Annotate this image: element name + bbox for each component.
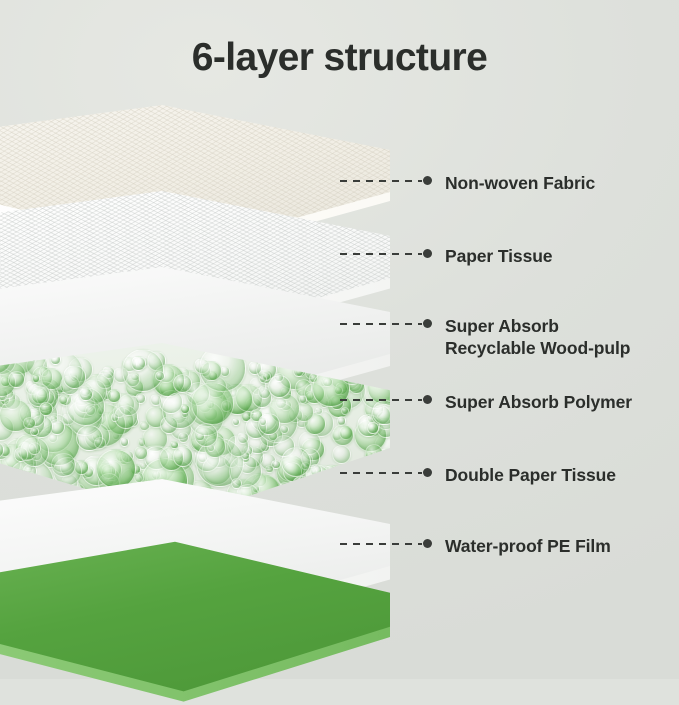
leader-dot-icon bbox=[423, 319, 432, 328]
polymer-bead bbox=[155, 371, 165, 381]
polymer-bead bbox=[358, 368, 367, 377]
callout-non-woven-fabric: Non-woven Fabric bbox=[340, 172, 595, 194]
polymer-bead bbox=[120, 437, 130, 447]
page-title: 6-layer structure bbox=[0, 36, 679, 80]
layer-label-paper-tissue: Paper Tissue bbox=[445, 245, 552, 267]
polymer-bead bbox=[265, 465, 273, 473]
leader-line-icon bbox=[340, 543, 422, 545]
leader-dot-icon bbox=[423, 176, 432, 185]
polymer-bead bbox=[51, 453, 75, 477]
polymer-bead bbox=[173, 374, 192, 393]
polymer-bead bbox=[356, 375, 364, 383]
layer-label-non-woven-fabric: Non-woven Fabric bbox=[445, 172, 595, 194]
leader-line-icon bbox=[340, 323, 422, 325]
diagram-canvas: 6-layer structure bbox=[0, 0, 679, 679]
callout-paper-tissue: Paper Tissue bbox=[340, 245, 552, 267]
polymer-bead bbox=[367, 422, 378, 433]
leader-dot-icon bbox=[423, 249, 432, 258]
layer-label-double-paper-tissue: Double Paper Tissue bbox=[445, 464, 616, 486]
polymer-bead bbox=[118, 394, 140, 416]
polymer-bead bbox=[381, 448, 390, 457]
layer-label-super-absorb-polymer: Super Absorb Polymer bbox=[445, 391, 632, 413]
leader-line-icon bbox=[340, 399, 422, 401]
polymer-bead bbox=[170, 441, 179, 450]
polymer-bead bbox=[191, 382, 234, 425]
callout-wood-pulp: Super Absorb Recyclable Wood-pulp bbox=[340, 315, 630, 360]
polymer-bead bbox=[23, 417, 36, 430]
polymer-bead bbox=[28, 351, 39, 362]
polymer-bead bbox=[94, 437, 106, 449]
polymer-bead bbox=[310, 464, 322, 476]
polymer-bead bbox=[367, 371, 379, 383]
polymer-bead bbox=[50, 354, 61, 365]
callout-super-absorb-polymer: Super Absorb Polymer bbox=[340, 391, 632, 413]
polymer-bead bbox=[340, 361, 364, 385]
layer-sheet-pe-film bbox=[0, 535, 390, 705]
leader-line-icon bbox=[340, 472, 422, 474]
leader-dot-icon bbox=[423, 539, 432, 548]
callout-pe-film: Water-proof PE Film bbox=[340, 535, 611, 557]
polymer-bead bbox=[173, 446, 194, 467]
polymer-bead bbox=[134, 446, 148, 460]
polymer-bead bbox=[180, 404, 190, 414]
layer-surface-pe-film bbox=[0, 535, 390, 705]
polymer-bead bbox=[32, 374, 41, 383]
polymer-bead bbox=[63, 365, 87, 389]
polymer-bead bbox=[232, 418, 240, 426]
polymer-bead bbox=[332, 424, 355, 447]
polymer-bead bbox=[344, 371, 355, 382]
layer-label-wood-pulp: Super Absorb Recyclable Wood-pulp bbox=[445, 315, 630, 360]
polymer-bead bbox=[227, 435, 249, 457]
polymer-bead bbox=[373, 373, 385, 385]
polymer-bead bbox=[365, 444, 383, 462]
layer-label-pe-film: Water-proof PE Film bbox=[445, 535, 611, 557]
polymer-bead bbox=[299, 395, 307, 403]
polymer-bead bbox=[268, 375, 291, 398]
layer-stack-illustration bbox=[0, 105, 380, 665]
leader-line-icon bbox=[340, 253, 422, 255]
polymer-bead bbox=[178, 432, 189, 443]
leader-dot-icon bbox=[423, 468, 432, 477]
polymer-bead bbox=[201, 361, 222, 382]
leader-dot-icon bbox=[423, 395, 432, 404]
callout-double-paper-tissue: Double Paper Tissue bbox=[340, 464, 616, 486]
leader-line-icon bbox=[340, 180, 422, 182]
polymer-bead bbox=[332, 445, 351, 464]
polymer-bead bbox=[8, 371, 24, 387]
